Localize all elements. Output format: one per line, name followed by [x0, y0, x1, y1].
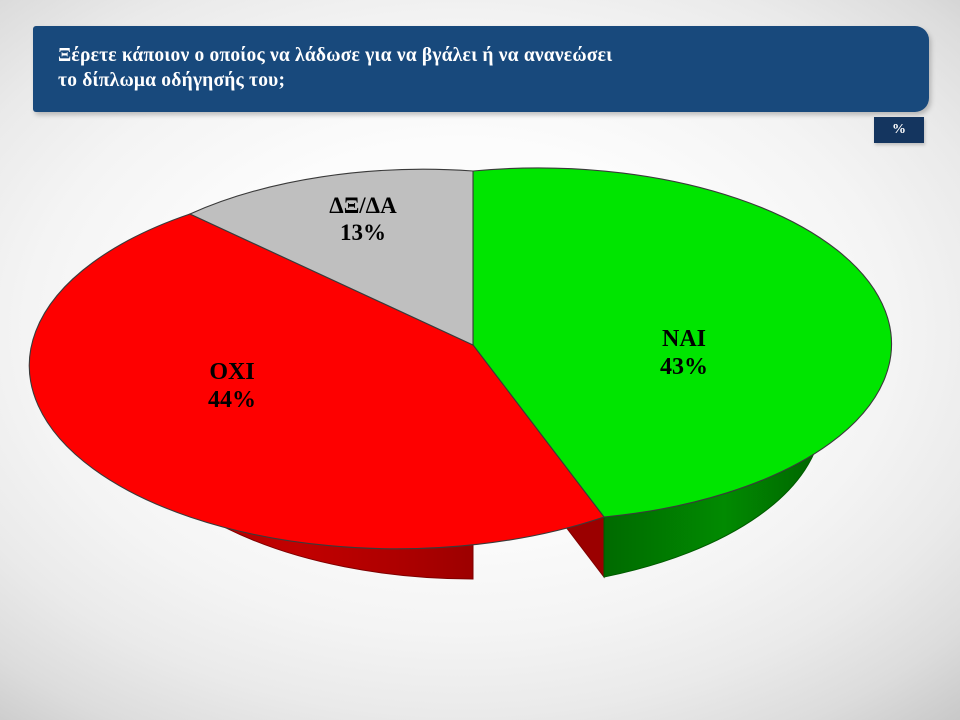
page-title: Ξέρετε κάποιον ο οποίος να λάδωσε για να…: [58, 43, 929, 93]
slide-canvas: Ξέρετε κάποιον ο οποίος να λάδωσε για να…: [0, 0, 960, 720]
pie-chart: ΝΑΙ 43% ΟΧΙ 44% ΔΞ/ΔΑ 13%: [0, 130, 960, 620]
pie-chart-svg: [0, 130, 960, 620]
title-banner: Ξέρετε κάποιον ο οποίος να λάδωσε για να…: [33, 26, 929, 112]
footer-bar: NEWS alco The pulse of society: [0, 640, 960, 720]
